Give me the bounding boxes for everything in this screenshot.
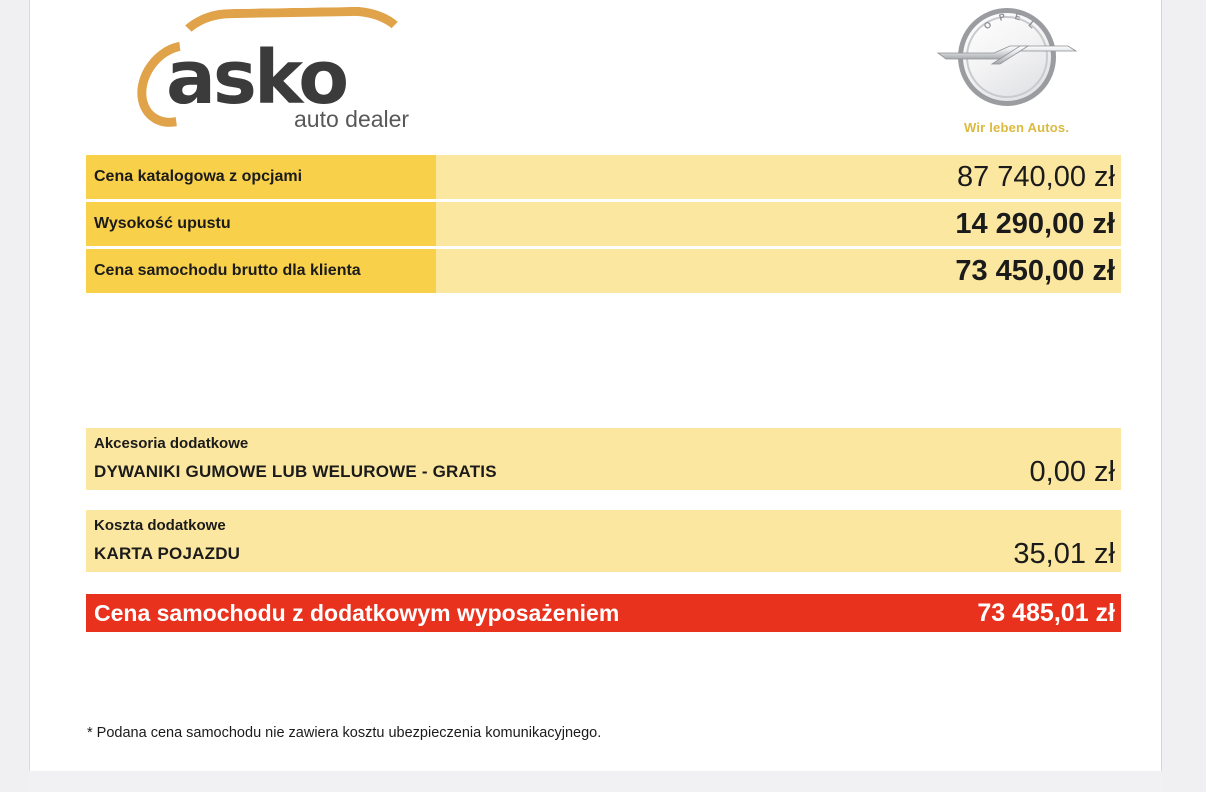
- opel-letter-ring: O P E L: [958, 10, 1056, 108]
- page-background-left: [0, 0, 29, 792]
- additional-costs-item-name: KARTA POJAZDU: [94, 544, 1013, 564]
- opel-letter-o: O: [982, 19, 995, 32]
- page-background-right: [1162, 0, 1206, 792]
- accessories-item-value: 0,00 zł: [1030, 456, 1115, 489]
- table-row: Cena katalogowa z opcjami 87 740,00 zł: [86, 155, 1121, 199]
- asko-dealer-logo: asko auto dealer: [114, 6, 414, 134]
- document-header: asko auto dealer O P E: [30, 0, 1163, 148]
- list-item: KARTA POJAZDU 35,01 zł: [86, 536, 1121, 572]
- accessories-block: Akcesoria dodatkowe DYWANIKI GUMOWE LUB …: [86, 428, 1121, 490]
- asko-tagline: auto dealer: [294, 106, 409, 133]
- document-page: asko auto dealer O P E: [29, 0, 1162, 771]
- footnote-text: * Podana cena samochodu nie zawiera kosz…: [87, 725, 601, 741]
- table-row: Cena samochodu brutto dla klienta 73 450…: [86, 249, 1121, 293]
- opel-tagline: Wir leben Autos.: [964, 120, 1069, 135]
- price-label-discount: Wysokość upustu: [86, 202, 436, 246]
- accessories-item-name: DYWANIKI GUMOWE LUB WELUROWE - GRATIS: [94, 462, 1030, 482]
- total-price-value: 73 485,01 zł: [977, 599, 1115, 628]
- price-summary-table: Cena katalogowa z opcjami 87 740,00 zł W…: [86, 155, 1121, 296]
- price-label-client-gross: Cena samochodu brutto dla klienta: [86, 249, 436, 293]
- opel-letter-l: L: [1027, 19, 1038, 31]
- opel-letter-e: E: [1014, 11, 1024, 23]
- additional-costs-block: Koszta dodatkowe KARTA POJAZDU 35,01 zł: [86, 510, 1121, 572]
- opel-manufacturer-logo: O P E L Wir leben Autos.: [916, 4, 1116, 144]
- total-price-label: Cena samochodu z dodatkowym wyposażeniem: [94, 600, 977, 627]
- opel-letter-p: P: [998, 11, 1008, 23]
- price-label-catalog: Cena katalogowa z opcjami: [86, 155, 436, 199]
- list-item: DYWANIKI GUMOWE LUB WELUROWE - GRATIS 0,…: [86, 454, 1121, 490]
- price-value-discount: 14 290,00 zł: [436, 202, 1121, 246]
- accessories-heading: Akcesoria dodatkowe: [86, 428, 1121, 454]
- additional-costs-item-value: 35,01 zł: [1013, 538, 1115, 571]
- extras-section: Akcesoria dodatkowe DYWANIKI GUMOWE LUB …: [86, 428, 1121, 592]
- total-price-bar: Cena samochodu z dodatkowym wyposażeniem…: [86, 594, 1121, 632]
- price-value-client-gross: 73 450,00 zł: [436, 249, 1121, 293]
- price-value-catalog: 87 740,00 zł: [436, 155, 1121, 199]
- page-background-bottom: [29, 771, 1162, 792]
- additional-costs-heading: Koszta dodatkowe: [86, 510, 1121, 536]
- asko-wordmark: asko: [166, 42, 346, 114]
- table-row: Wysokość upustu 14 290,00 zł: [86, 202, 1121, 246]
